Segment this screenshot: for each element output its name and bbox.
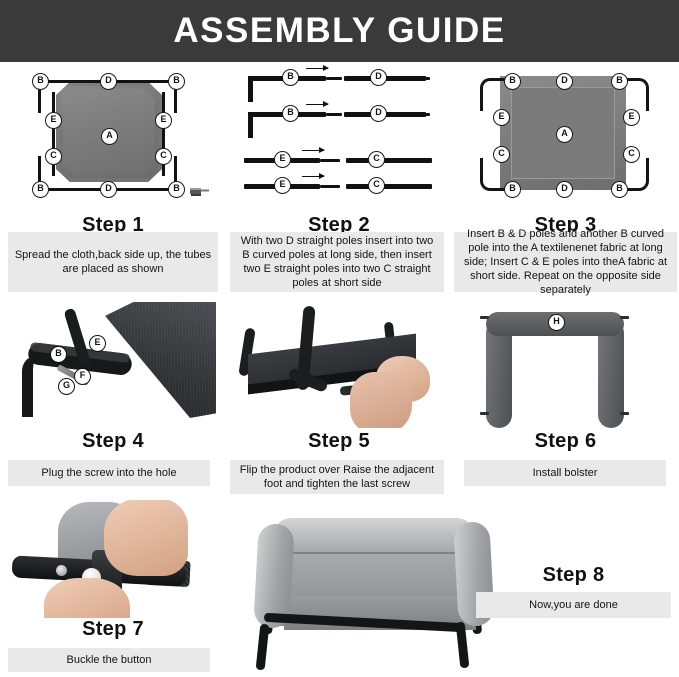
- steps-row-2: B E F G Step 4 Plug the screw into the h…: [0, 300, 679, 500]
- pole-d-tip-1: [410, 77, 430, 80]
- step-4-photo: B E F G: [0, 300, 226, 428]
- label-bubble-e-pole-2: E: [274, 177, 291, 194]
- step-3-caption: Insert B & D poles and another B curved …: [454, 232, 677, 292]
- step-6-caption: Install bolster: [464, 460, 666, 486]
- pole-b-tip-2: [326, 113, 342, 116]
- label-bubble-b-bottom-right: B: [168, 181, 185, 198]
- label-bubble-b-step4: B: [50, 346, 67, 363]
- pole-assembly-b-d-1: B D: [244, 74, 434, 88]
- step-4-panel: B E F G Step 4 Plug the screw into the h…: [0, 300, 226, 500]
- step-1-caption: Spread the cloth,back side up, the tubes…: [8, 232, 218, 292]
- step-5-panel: Step 5 Flip the product over Raise the a…: [226, 300, 452, 500]
- insert-arrow-3: [302, 150, 324, 151]
- steps-row-1: B D B E E C C A B D B: [0, 62, 679, 300]
- pole-d-tip-2: [410, 113, 430, 116]
- step-2-panel: B D B D: [226, 62, 452, 300]
- label-bubble-c-pole-2: C: [368, 177, 385, 194]
- label-bubble-c-left: C: [45, 148, 62, 165]
- bolster-top: [274, 518, 474, 552]
- step-1-diagram: B D B E E C C A B D B: [12, 68, 208, 203]
- step-3-illustration: B D B E E C C A B D B: [452, 62, 679, 212]
- pole-c-shaft-2: [346, 184, 432, 189]
- label-bubble-c-pole-1: C: [368, 151, 385, 168]
- label-bubble-c-left-3: C: [493, 146, 510, 163]
- bolster-left-arm: [486, 320, 512, 428]
- bolster-strap-br: [620, 412, 629, 415]
- pole-assembly-b-d-2: B D: [244, 110, 434, 124]
- assembly-guide-page: ASSEMBLY GUIDE: [0, 0, 679, 677]
- label-bubble-g-step4: G: [58, 378, 75, 395]
- step-8-photo-content: Step 8 Now,you are done: [226, 500, 679, 677]
- step-4-caption: Plug the screw into the hole: [8, 460, 210, 486]
- page-title: ASSEMBLY GUIDE: [173, 11, 505, 51]
- screw-hardware-icon: [188, 185, 210, 197]
- step-5-photo-content: [226, 300, 452, 428]
- bolster-strap-tr: [620, 316, 629, 319]
- label-bubble-a-center-3: A: [556, 126, 573, 143]
- insert-arrow-2: [306, 104, 328, 105]
- pole-b-tip-1: [326, 77, 342, 80]
- step-4-photo-content: B E F G: [0, 300, 226, 428]
- step-7-photo: [0, 500, 226, 618]
- hand-left: [350, 372, 412, 428]
- label-bubble-h-step6: H: [548, 314, 565, 331]
- step-5-caption: Flip the product over Raise the adjacent…: [230, 460, 444, 494]
- hand-upper-step7: [104, 500, 188, 576]
- step-2-caption: With two D straight poles insert into tw…: [230, 232, 444, 292]
- step-1-panel: B D B E E C C A B D B: [0, 62, 226, 300]
- bolster-strap-bl: [480, 412, 489, 415]
- step-7-panel: Step 7 Buckle the button: [0, 500, 226, 677]
- step-6-panel: H Step 6 Install bolster: [452, 300, 679, 500]
- pole-e-tip-2: [320, 185, 340, 188]
- step-8-panel: Step 8 Now,you are done: [226, 500, 679, 677]
- label-bubble-d-pole-2: D: [370, 105, 387, 122]
- step-2-diagram: B D B D: [244, 68, 434, 201]
- step-4-title: Step 4: [0, 430, 226, 453]
- step-5-title: Step 5: [226, 430, 452, 453]
- label-bubble-d-pole-1: D: [370, 69, 387, 86]
- step-7-photo-content: [0, 500, 226, 618]
- label-bubble-e-right-3: E: [623, 109, 640, 126]
- label-bubble-b-top-left-3: B: [504, 73, 521, 90]
- label-bubble-b-bottom-right-3: B: [611, 181, 628, 198]
- label-bubble-b-pole-1: B: [282, 69, 299, 86]
- step-7-title: Step 7: [0, 618, 226, 641]
- step-8-caption: Now,you are done: [476, 592, 671, 618]
- step-6-title: Step 6: [452, 430, 679, 453]
- step-8-title: Step 8: [476, 564, 671, 587]
- label-bubble-c-right: C: [155, 148, 172, 165]
- steps-row-3: Step 7 Buckle the button: [0, 500, 679, 677]
- label-bubble-b-pole-2: B: [282, 105, 299, 122]
- step-7-caption: Buckle the button: [8, 648, 210, 672]
- step-6-photo-content: H: [452, 300, 679, 428]
- label-bubble-d-bottom-3: D: [556, 181, 573, 198]
- label-bubble-d-top-3: D: [556, 73, 573, 90]
- label-bubble-a-center: A: [101, 128, 118, 145]
- label-bubble-b-bottom-left-3: B: [504, 181, 521, 198]
- bed-frame-leg-front-left: [256, 624, 270, 671]
- step-2-illustration: B D B D: [226, 62, 452, 212]
- step-5-photo: [226, 300, 452, 428]
- pole-e-tip-1: [320, 159, 340, 162]
- step-3-diagram: B D B E E C C A B D B: [468, 68, 664, 203]
- label-bubble-e-left-3: E: [493, 109, 510, 126]
- label-bubble-b-top-right: B: [168, 73, 185, 90]
- frame-bar-left-bend: [22, 355, 53, 417]
- label-bubble-c-right-3: C: [623, 146, 640, 163]
- bolster-h: H: [480, 304, 630, 428]
- bolster-strap-tl: [480, 316, 489, 319]
- label-bubble-d-top: D: [100, 73, 117, 90]
- step-3-panel: B D B E E C C A B D B Step 3 Insert B & …: [452, 62, 679, 300]
- step-1-illustration: B D B E E C C A B D B: [0, 62, 226, 212]
- step-6-photo: H: [452, 300, 679, 428]
- label-bubble-e-pole-1: E: [274, 151, 291, 168]
- label-bubble-b-top-right-3: B: [611, 73, 628, 90]
- label-bubble-f-step4: F: [74, 368, 91, 385]
- label-bubble-e-step4: E: [89, 335, 106, 352]
- label-bubble-b-top-left: B: [32, 73, 49, 90]
- pole-assembly-e-c-2: E C: [244, 182, 434, 196]
- insert-arrow-1: [306, 68, 328, 69]
- label-bubble-b-bottom-left: B: [32, 181, 49, 198]
- label-bubble-d-bottom: D: [100, 181, 117, 198]
- page-header: ASSEMBLY GUIDE: [0, 0, 679, 62]
- label-bubble-e-right: E: [155, 112, 172, 129]
- frame-rivet: [56, 565, 67, 576]
- insert-arrow-4: [302, 176, 324, 177]
- label-bubble-e-left: E: [45, 112, 62, 129]
- finished-pet-bed: [244, 506, 544, 668]
- pole-assembly-e-c-1: E C: [244, 156, 434, 170]
- pole-c-shaft-1: [346, 158, 432, 163]
